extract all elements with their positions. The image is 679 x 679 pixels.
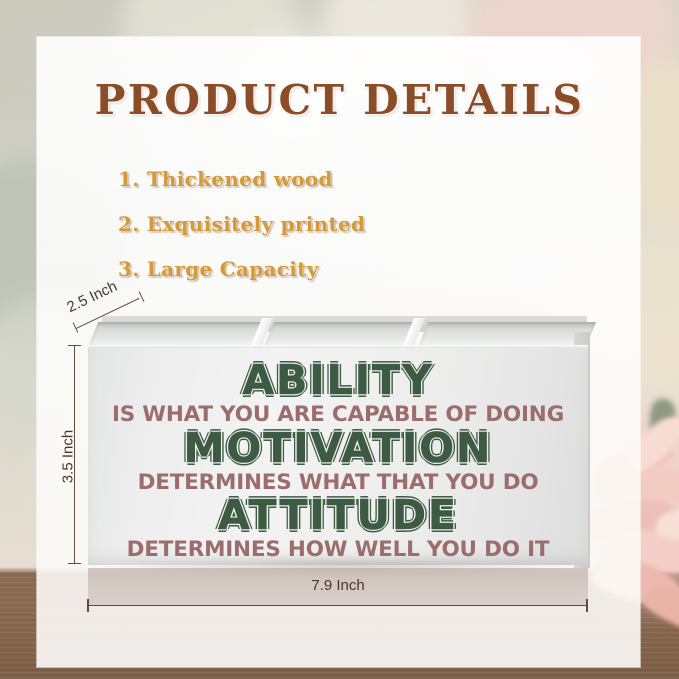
quote-line-motivation-sub: DETERMINES WHAT THAT YOU DO: [88, 472, 588, 494]
caddy-front-top-edge: [88, 345, 588, 348]
feature-item: 3. Large Capacity: [118, 257, 538, 281]
height-dimension-cap: [68, 563, 81, 564]
quote-line-attitude: ATTITUDE: [88, 495, 588, 536]
page-title: PRODUCT DETAILS: [0, 76, 679, 124]
quote-line-ability: ABILITY: [88, 360, 588, 401]
caddy-printed-quote: ABILITY IS WHAT YOU ARE CAPABLE OF DOING…: [88, 358, 588, 563]
product-detail-image: PRODUCT DETAILS 1. Thickened wood 2. Exq…: [0, 0, 679, 679]
quote-line-motivation: MOTIVATION: [88, 428, 588, 469]
quote-line-attitude-sub: DETERMINES HOW WELL YOU DO IT: [88, 539, 588, 561]
flower-stem: [650, 399, 676, 445]
feature-item: 1. Thickened wood: [118, 167, 538, 191]
width-dimension-line: [88, 605, 588, 606]
height-dimension-label: 3.5 Inch: [60, 412, 77, 502]
quote-line-ability-sub: IS WHAT YOU ARE CAPABLE OF DOING: [88, 404, 588, 426]
feature-item: 2. Exquisitely printed: [118, 212, 538, 236]
width-dimension-cap: [87, 599, 89, 612]
height-dimension-cap: [68, 345, 81, 346]
flower-petal: [655, 508, 679, 540]
feature-list: 1. Thickened wood 2. Exquisitely printed…: [118, 167, 538, 302]
width-dimension-label: 7.9 Inch: [88, 577, 588, 594]
width-dimension-cap: [586, 599, 588, 612]
